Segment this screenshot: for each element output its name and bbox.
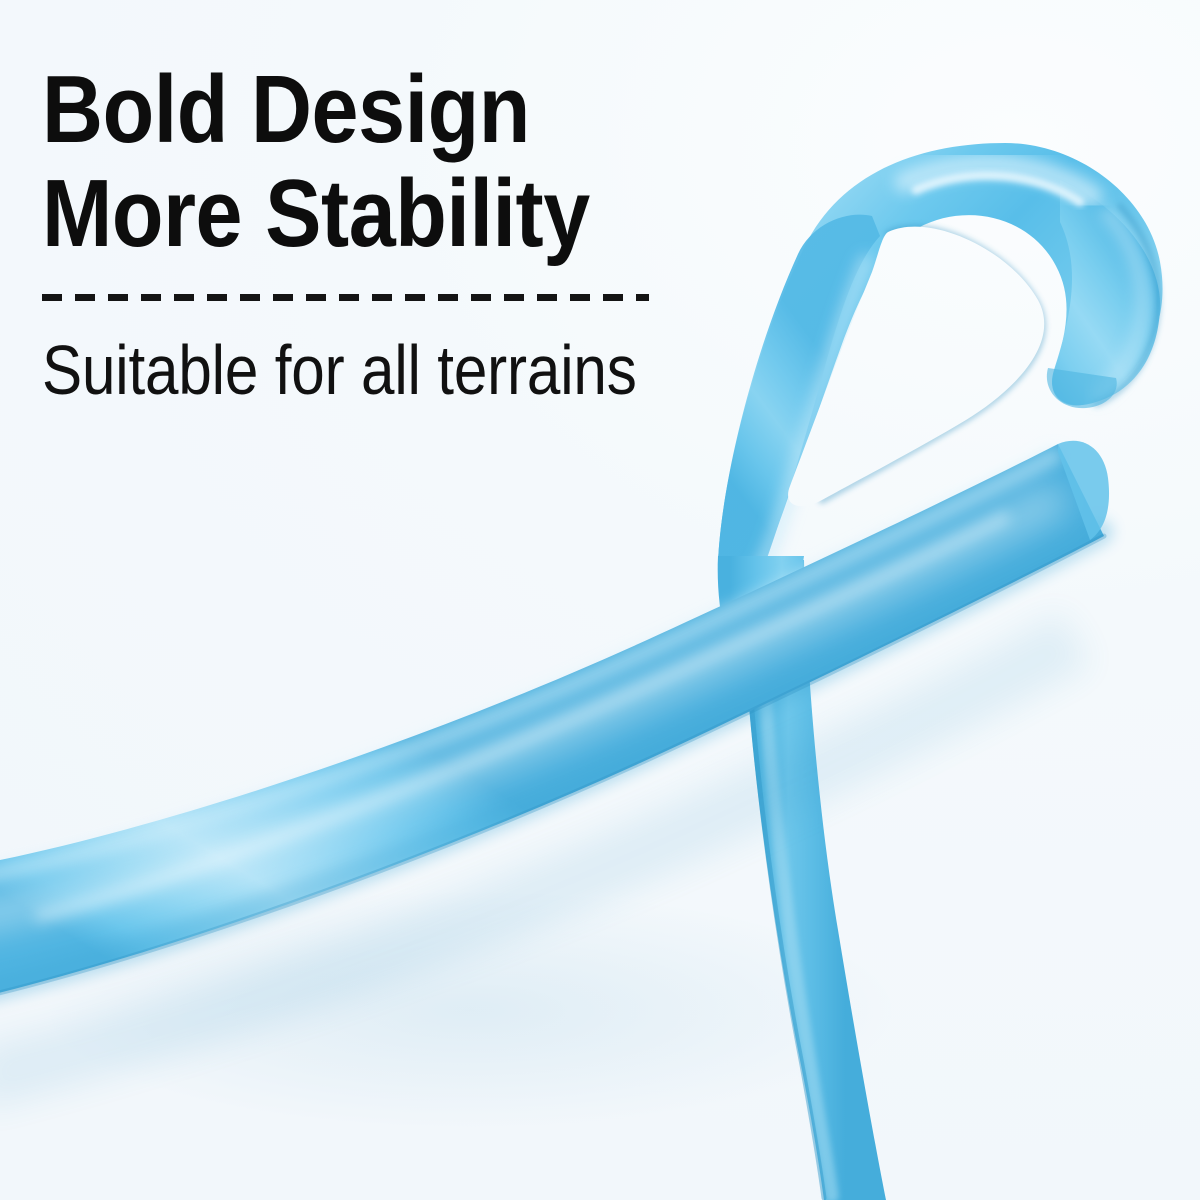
marketing-copy-block: Bold Design More Stability Suitable for … <box>42 62 802 405</box>
headline-line-1: Bold Design <box>42 62 711 158</box>
dashed-divider <box>42 294 649 301</box>
subtitle-text: Suitable for all terrains <box>42 335 696 405</box>
headline-line-2: More Stability <box>42 166 711 262</box>
product-feature-banner: Bold Design More Stability Suitable for … <box>0 0 1200 1200</box>
